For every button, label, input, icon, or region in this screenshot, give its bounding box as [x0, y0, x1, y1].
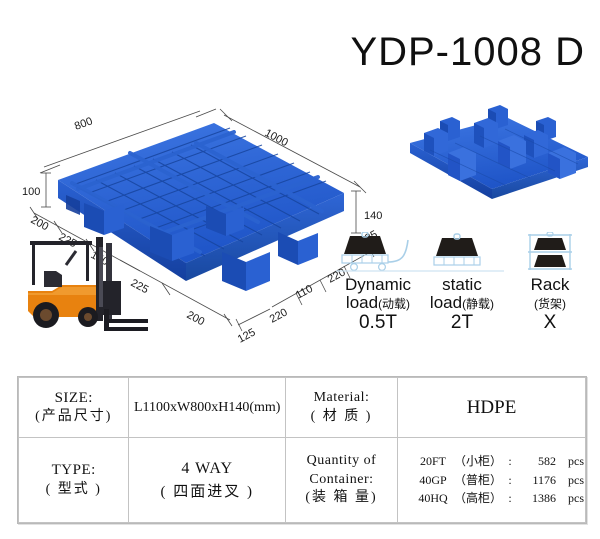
list-item: 40GP （普柜） : 1176 pcs: [414, 471, 584, 490]
dim-1000: 1000: [263, 127, 290, 149]
dynamic-load-value: 0.5T: [336, 313, 420, 333]
spec-table: SIZE: (产品尺寸) L1100xW800xH140(mm) Materia…: [17, 376, 587, 524]
container-count: 582: [516, 452, 568, 471]
table-row: TYPE: ( 型式 ) 4 WAY ( 四面进叉 ) Quantity of …: [19, 438, 586, 523]
static-load-line1: static: [420, 276, 504, 294]
list-item: 40HQ （高柜） : 1386 pcs: [414, 489, 584, 508]
rack-load-line2: (货架): [508, 294, 592, 312]
rack-load-icon: [508, 232, 592, 274]
table-row: SIZE: (产品尺寸) L1100xW800xH140(mm) Materia…: [19, 378, 586, 438]
dim-225-left: 225: [57, 231, 79, 250]
load-static: static load(静载) 2T: [420, 232, 504, 333]
container-unit: pcs: [568, 471, 584, 490]
container-unit: pcs: [568, 452, 584, 471]
quantity-label-en1: Quantity of: [287, 452, 396, 471]
static-load-icon: [420, 232, 504, 274]
pallet-bottom-view: [410, 105, 588, 199]
container-cn: （普柜）: [452, 471, 504, 490]
quantity-label-en2: Container:: [287, 471, 396, 490]
container-count: 1176: [516, 471, 568, 490]
dim-225-bottom: 225: [129, 277, 151, 296]
material-label-cn: ( 材 质 ): [287, 408, 396, 427]
type-label-cell: TYPE: ( 型式 ): [19, 438, 129, 523]
quantity-value: 20FT （小柜） : 582 pcs 40GP （普柜） : 1176 pcs: [398, 438, 586, 523]
dim-140: 140: [364, 210, 382, 222]
material-value: HDPE: [398, 378, 586, 438]
load-ratings: Dynamic load(动载) 0.5T: [336, 232, 588, 342]
container-colon: :: [504, 471, 516, 490]
load-dynamic: Dynamic load(动载) 0.5T: [336, 232, 420, 333]
size-label-en: SIZE:: [20, 388, 127, 408]
size-label-cn: (产品尺寸): [20, 408, 127, 427]
rack-load-value: X: [508, 313, 592, 333]
dim-100: 100: [22, 186, 40, 198]
container-code: 20FT: [414, 452, 452, 471]
quantity-label-cn: (装 箱 量): [287, 489, 396, 508]
size-label-cell: SIZE: (产品尺寸): [19, 378, 129, 438]
page-title: YDP-1008 D: [0, 30, 585, 75]
static-load-value: 2T: [420, 313, 504, 333]
list-item: 20FT （小柜） : 582 pcs: [414, 452, 584, 471]
container-count: 1386: [516, 489, 568, 508]
type-value-en: 4 WAY: [130, 457, 283, 481]
type-label-cn: ( 型式 ): [20, 481, 127, 500]
dim-200-left: 200: [29, 214, 51, 233]
material-label-en: Material:: [287, 389, 396, 408]
container-colon: :: [504, 452, 516, 471]
rack-load-line1: Rack: [508, 276, 592, 294]
dynamic-load-line2: load(动载): [336, 294, 420, 312]
load-rack: Rack (货架) X: [508, 232, 592, 333]
type-value: 4 WAY ( 四面进叉 ): [129, 438, 285, 523]
dim-220-lower: 220: [268, 306, 290, 325]
type-value-cn: ( 四面进叉 ): [130, 481, 283, 504]
container-cn: （小柜）: [452, 452, 504, 471]
container-cn: （高柜）: [452, 489, 504, 508]
dynamic-load-line1: Dynamic: [336, 276, 420, 294]
quantity-label-cell: Quantity of Container: (装 箱 量): [285, 438, 397, 523]
container-colon: :: [504, 489, 516, 508]
dim-200-bottom: 200: [185, 309, 207, 328]
static-load-line2: load(静载): [420, 294, 504, 312]
dim-800: 800: [73, 115, 94, 133]
product-spec-sheet: YDP-1008 D: [0, 0, 600, 539]
dim-125-bottom: 125: [236, 326, 258, 345]
dynamic-load-icon: [336, 232, 420, 274]
container-code: 40GP: [414, 471, 452, 490]
container-unit: pcs: [568, 489, 584, 508]
material-label-cell: Material: ( 材 质 ): [285, 378, 397, 438]
container-code: 40HQ: [414, 489, 452, 508]
dim-110: 110: [294, 283, 315, 302]
type-label-en: TYPE:: [20, 460, 127, 480]
size-value: L1100xW800xH140(mm): [129, 378, 285, 438]
